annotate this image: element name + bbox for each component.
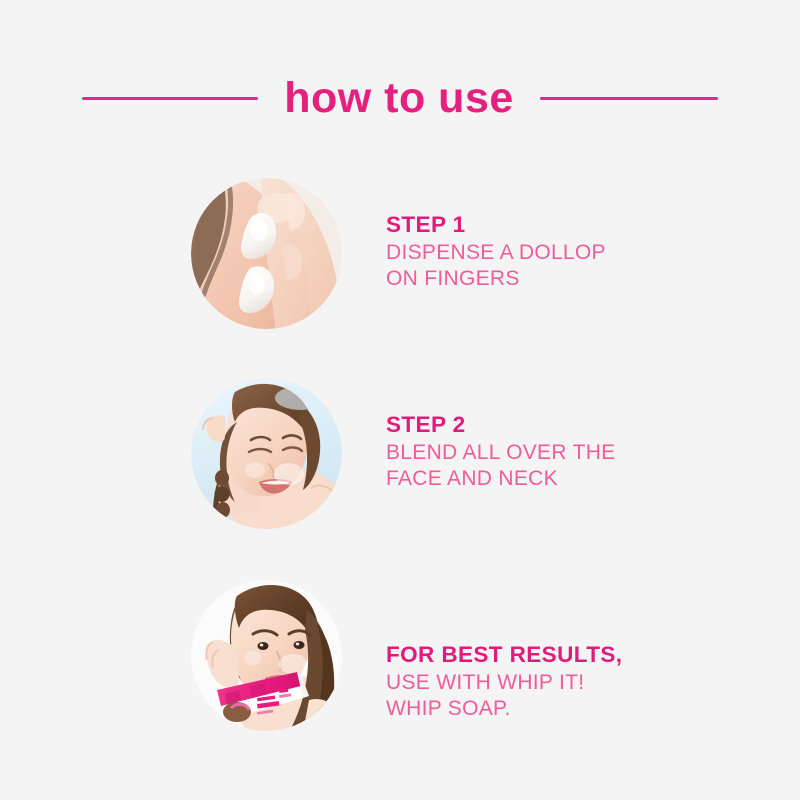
page-title: how to use (284, 77, 514, 120)
step-2-body: BLEND ALL OVER THE FACE AND NECK (386, 440, 800, 493)
step-2-body-line-1: BLEND ALL OVER THE (386, 440, 800, 467)
divider-line-left (82, 97, 258, 100)
step-item: STEP 1 DISPENSE A DOLLOP ON FINGERS (0, 178, 800, 329)
step-1-heading: STEP 1 (386, 212, 800, 239)
step-3-text: FOR BEST RESULTS, USE WITH WHIP IT! WHIP… (386, 580, 800, 723)
step-2-body-line-2: FACE AND NECK (386, 466, 800, 493)
step-2-heading: STEP 2 (386, 412, 800, 439)
step-3-body-line-2: WHIP SOAP. (386, 696, 800, 723)
step-1-body-line-2: ON FINGERS (386, 266, 800, 293)
step-3-image (191, 580, 342, 731)
step-1-body-line-1: DISPENSE A DOLLOP (386, 240, 800, 267)
step-item: STEP 2 BLEND ALL OVER THE FACE AND NECK (0, 378, 800, 529)
step-item: FOR BEST RESULTS, USE WITH WHIP IT! WHIP… (0, 580, 800, 731)
step-3-body-line-1: USE WITH WHIP IT! (386, 670, 800, 697)
step-2-image (191, 378, 342, 529)
divider-line-right (540, 97, 718, 100)
step-1-image (191, 178, 342, 329)
step-3-heading: FOR BEST RESULTS, (386, 642, 800, 669)
step-3-body: USE WITH WHIP IT! WHIP SOAP. (386, 670, 800, 723)
step-1-body: DISPENSE A DOLLOP ON FINGERS (386, 240, 800, 293)
step-1-text: STEP 1 DISPENSE A DOLLOP ON FINGERS (386, 178, 800, 293)
page-header: how to use (0, 68, 800, 128)
step-2-text: STEP 2 BLEND ALL OVER THE FACE AND NECK (386, 378, 800, 493)
